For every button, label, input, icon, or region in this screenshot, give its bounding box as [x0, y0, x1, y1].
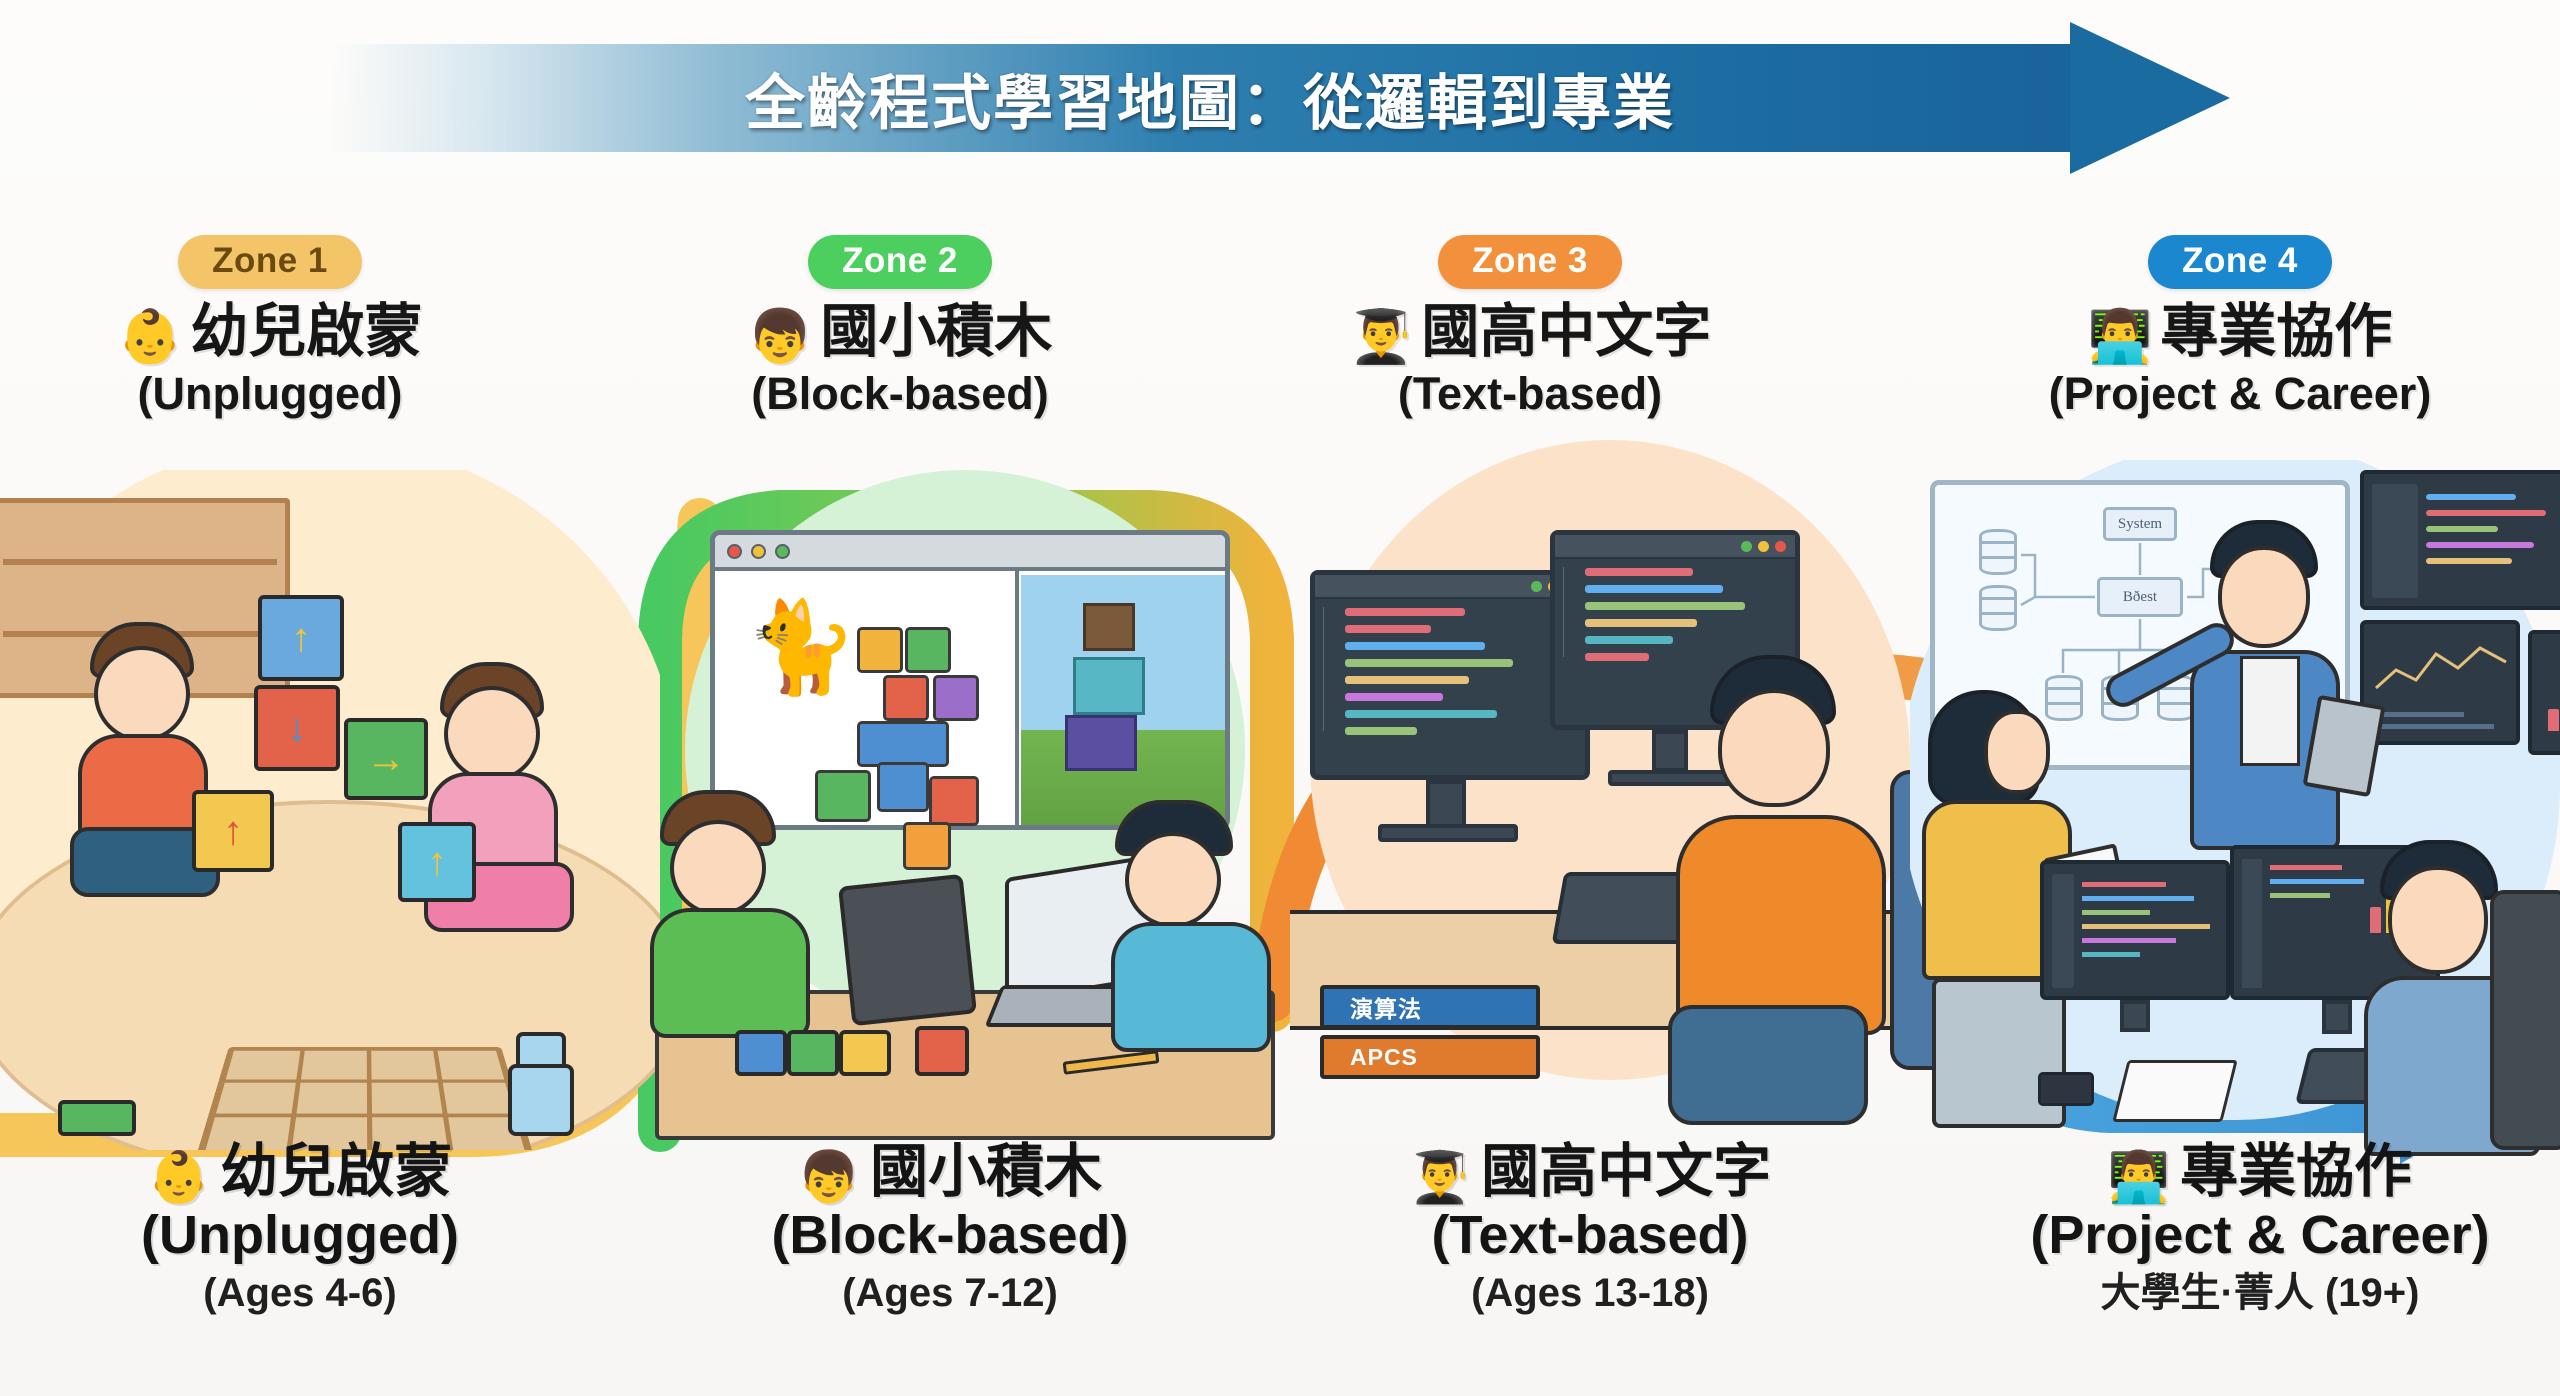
boy-emoji: 👦	[748, 308, 813, 366]
puzzle-piece-held-green	[815, 770, 871, 822]
zone-footer-2-ages: (Ages 7-12)	[690, 1269, 1210, 1317]
monitor-left-base	[1378, 824, 1518, 842]
zone-footer-2: 👦國小積木 (Block-based) (Ages 7-12)	[690, 1140, 1210, 1317]
monitor-left-stand	[1426, 780, 1466, 828]
scratch-cat-icon: 🐈	[745, 595, 857, 700]
zone-footer-4: 👨‍💻專業協作 (Project & Career) 大學生·菁人 (19+)	[1980, 1140, 2540, 1317]
wall-monitor-code	[2360, 470, 2560, 610]
cpp-code-lines	[1555, 559, 1795, 661]
zone-footer-3-ages: (Ages 13-18)	[1330, 1269, 1850, 1317]
block-toy-row3	[839, 1030, 891, 1076]
zone-footer-1-zh-text: 幼兒啟蒙	[220, 1139, 452, 1204]
zone-footer-1: 👶幼兒啟蒙 (Unplugged) (Ages 4-6)	[40, 1140, 560, 1317]
zone-header-3: Zone 3 👨‍🎓國高中文字 (Text-based)	[1320, 235, 1740, 420]
monitor-right-titlebar	[1555, 535, 1795, 559]
illustration-zone-3: 演算法 APCS	[1290, 440, 1950, 1150]
office-chair-zone4	[2490, 890, 2560, 1150]
infographic-canvas: 全齡程式學習地圖：從邏輯到專業 Zone 1 👶幼兒啟蒙 (Unplugged)…	[0, 0, 2560, 1396]
title-banner: 全齡程式學習地圖：從邏輯到專業	[330, 44, 2230, 152]
monitor-left-python	[1310, 570, 1590, 780]
tablet-device	[838, 874, 977, 1026]
puzzle-piece-blue	[857, 721, 949, 767]
window-maximize-dot	[775, 544, 790, 559]
zone-header-4: Zone 4 👨‍💻專業協作 (Project & Career)	[1960, 235, 2520, 420]
wall-monitor-barchart	[2528, 630, 2560, 755]
zone-badge-1[interactable]: Zone 1	[178, 235, 362, 289]
puzzle-piece-floating-orange	[903, 822, 951, 870]
window-close-dot	[727, 544, 742, 559]
zone-footer-4-ages: 大學生·菁人 (19+)	[1980, 1269, 2540, 1317]
illustration-zone-2: 🐈	[615, 470, 1315, 1150]
arrow-block-up-blue: ↑	[258, 595, 344, 681]
zone-badge-2[interactable]: Zone 2	[808, 235, 992, 289]
boy-emoji-footer: 👦	[798, 1149, 860, 1205]
reference-books: 演算法 APCS	[1320, 985, 1540, 1079]
floor-block-green	[58, 1100, 136, 1136]
zone-footer-3: 👨‍🎓國高中文字 (Text-based) (Ages 13-18)	[1330, 1140, 1850, 1317]
bar-chart-icon	[2548, 663, 2560, 731]
illustration-zone-1: ↑ ↓ → ↑ ↑ ← →	[0, 470, 660, 1150]
technologist-emoji-footer: 👨‍💻	[2108, 1149, 2170, 1205]
zone-title-4-text: 專業協作	[2160, 299, 2392, 364]
desk-monitor-code	[2040, 860, 2230, 1000]
zone-title-2: 👦國小積木	[690, 300, 1110, 366]
puzzle-piece-green	[905, 627, 951, 673]
arrow-block-held-yellow: ↑	[192, 790, 274, 872]
zone-title-3: 👨‍🎓國高中文字	[1320, 300, 1740, 366]
zone-subtitle-2: (Block-based)	[690, 368, 1110, 420]
zone-footer-1-zh: 👶幼兒啟蒙	[40, 1140, 560, 1205]
page-title: 全齡程式學習地圖：從邏輯到專業	[330, 44, 2090, 152]
zone-title-2-text: 國小積木	[820, 299, 1052, 364]
illustration-zone-4: System Bðest	[1910, 460, 2560, 1160]
arrow-block-held-cyan: ↑	[398, 822, 476, 902]
puzzle-piece-floating-red	[929, 776, 979, 826]
zone-title-1-text: 幼兒啟蒙	[190, 299, 422, 364]
zone-footer-2-zh-text: 國小積木	[870, 1139, 1102, 1204]
zone-badge-3[interactable]: Zone 3	[1438, 235, 1622, 289]
puzzle-piece-red	[883, 675, 929, 721]
line-chart-icon	[2374, 640, 2512, 700]
book-title-algorithms: 演算法	[1350, 990, 1422, 1024]
zone-subtitle-1: (Unplugged)	[60, 368, 480, 420]
zone-header-1: Zone 1 👶幼兒啟蒙 (Unplugged)	[60, 235, 480, 420]
arrow-block-down-red: ↓	[254, 685, 340, 771]
smartphone	[2038, 1072, 2094, 1106]
puzzle-piece-floating-blue	[877, 762, 929, 812]
zone-footer-4-zh: 👨‍💻專業協作	[1980, 1140, 2540, 1205]
zone-subtitle-3: (Text-based)	[1320, 368, 1740, 420]
zone-footer-1-ages: (Ages 4-6)	[40, 1269, 560, 1317]
girl2-head	[670, 820, 766, 916]
zone-subtitle-4: (Project & Career)	[1960, 368, 2520, 420]
puzzle-piece-purple	[933, 675, 979, 721]
boy2-head	[1125, 832, 1221, 928]
block-toy-row	[735, 1030, 787, 1076]
monitor-right-stand	[1652, 730, 1688, 772]
zone-footer-2-en: (Block-based)	[690, 1205, 1210, 1265]
boy2-shirt	[1111, 922, 1271, 1052]
window-divider	[1015, 571, 1019, 825]
girl-head	[444, 686, 540, 782]
minecraft-scene	[1021, 575, 1225, 825]
notepad-pen	[2112, 1060, 2237, 1122]
python-code-lines	[1315, 599, 1585, 735]
baby-emoji: 👶	[118, 308, 183, 366]
graduate-emoji-footer: 👨‍🎓	[1409, 1149, 1471, 1205]
graduate-emoji: 👨‍🎓	[1349, 308, 1414, 366]
window-titlebar	[715, 535, 1225, 571]
zone-footer-4-en: (Project & Career)	[1980, 1205, 2540, 1265]
zone-footer-1-en: (Unplugged)	[40, 1205, 560, 1265]
robot-body	[508, 1064, 574, 1136]
monitor-right-base	[1608, 770, 1734, 786]
book-title-apcs: APCS	[1350, 1044, 1418, 1071]
toy-robot	[500, 1030, 584, 1150]
book-apcs: APCS	[1320, 1035, 1540, 1079]
zone-footer-3-zh-text: 國高中文字	[1481, 1139, 1771, 1204]
zone-footer-2-zh: 👦國小積木	[690, 1140, 1210, 1205]
wall-monitor-linechart	[2360, 620, 2520, 745]
desk-monitor-dashboard-stand	[2322, 1000, 2352, 1034]
zone-footer-4-zh-text: 專業協作	[2180, 1139, 2412, 1204]
block-toy-red	[915, 1026, 969, 1076]
puzzle-piece-yellow	[857, 627, 903, 673]
desk-monitor-code-stand	[2120, 1000, 2150, 1032]
zone-footer-3-zh: 👨‍🎓國高中文字	[1330, 1140, 1850, 1205]
coding-grid-board	[185, 1047, 545, 1150]
zone-footer-3-en: (Text-based)	[1330, 1205, 1850, 1265]
zone-header-2: Zone 2 👦國小積木 (Block-based)	[690, 235, 1110, 420]
zone-title-3-text: 國高中文字	[1421, 299, 1711, 364]
boy-head	[94, 646, 190, 742]
zone-badge-4[interactable]: Zone 4	[2148, 235, 2332, 289]
zone-title-4: 👨‍💻專業協作	[1960, 300, 2520, 366]
technologist-emoji: 👨‍💻	[2088, 308, 2153, 366]
baby-emoji-footer: 👶	[148, 1149, 210, 1205]
monitor-left-titlebar	[1315, 575, 1585, 599]
banner-arrowhead	[2070, 22, 2230, 174]
book-algorithms: 演算法	[1320, 985, 1540, 1029]
window-minimize-dot	[751, 544, 766, 559]
zone-title-1: 👶幼兒啟蒙	[60, 300, 480, 366]
girl2-shirt	[650, 908, 810, 1038]
block-toy-row2	[787, 1030, 839, 1076]
arrow-block-right-green: →	[344, 718, 428, 800]
